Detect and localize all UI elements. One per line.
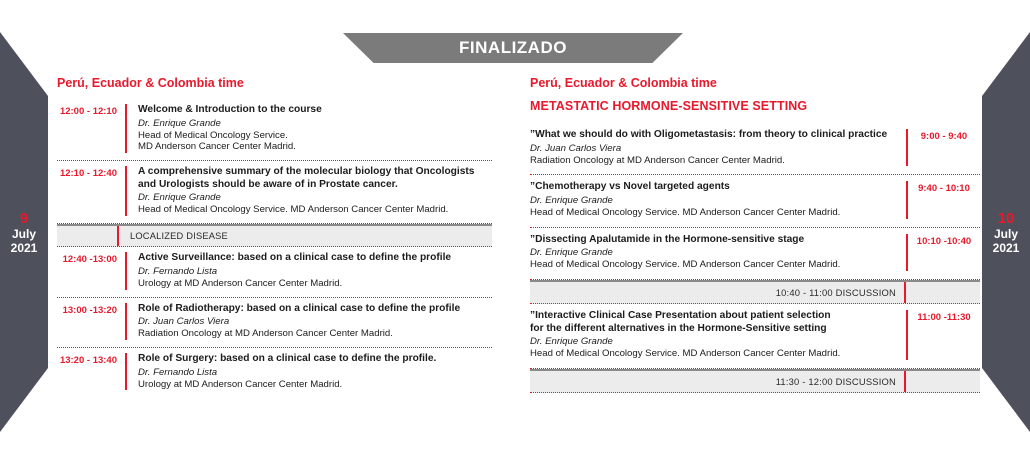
session-title: Active Surveillance: based on a clinical…	[138, 252, 492, 265]
session-row[interactable]: ”What we should do with Oligometastasis:…	[530, 123, 980, 175]
agenda-column-day9: Perú, Ecuador & Colombia time 12:00 - 12…	[57, 76, 492, 397]
section-band-localized-disease: LOCALIZED DISEASE	[57, 224, 492, 247]
discussion-band-label: 10:40 - 11:00 DISCUSSION	[776, 282, 896, 303]
session-body: ”What we should do with Oligometastasis:…	[530, 129, 906, 166]
session-speaker: Dr. Enrique Grande	[530, 195, 896, 207]
band-accent-bar	[117, 226, 119, 246]
day-tab-left: 9 July 2021	[0, 32, 48, 432]
session-row[interactable]: 12:40 -13:00 Active Surveillance: based …	[57, 247, 492, 297]
session-time: 13:00 -13:20	[57, 303, 125, 340]
session-affiliation: Radiation Oncology at MD Anderson Cancer…	[138, 328, 492, 340]
discussion-band-1: 10:40 - 11:00 DISCUSSION	[530, 280, 980, 304]
session-affiliation: Head of Medical Oncology Service. MD And…	[530, 207, 896, 219]
session-title-2: for the different alternatives in the Ho…	[530, 323, 896, 336]
session-affiliation: Radiation Oncology at MD Anderson Cancer…	[530, 155, 896, 167]
day-tab-right-year: 2021	[993, 241, 1020, 255]
session-time: 9:40 - 10:10	[908, 181, 980, 218]
session-affiliation: Head of Medical Oncology Service.	[138, 130, 492, 142]
session-title: Welcome & Introduction to the course	[138, 104, 492, 117]
session-body: Active Surveillance: based on a clinical…	[127, 252, 492, 289]
session-title: ”Chemotherapy vs Novel targeted agents	[530, 181, 896, 194]
section-band-label: LOCALIZED DISEASE	[130, 226, 228, 246]
session-row[interactable]: 13:00 -13:20 Role of Radiotherapy: based…	[57, 298, 492, 348]
day-tab-right-day: 10	[998, 210, 1015, 227]
day-tab-right: 10 July 2021	[982, 32, 1030, 432]
session-speaker: Dr. Enrique Grande	[530, 336, 896, 348]
agenda-page: FINALIZADO 9 July 2021 10 July 2021 Perú…	[0, 0, 1030, 450]
session-time: 10:10 -10:40	[908, 234, 980, 271]
session-affiliation: Urology at MD Anderson Cancer Center Mad…	[138, 379, 492, 391]
discussion-band-label: 11:30 - 12:00 DISCUSSION	[776, 371, 896, 392]
session-affiliation: Head of Medical Oncology Service. MD And…	[138, 204, 492, 216]
session-row[interactable]: ”Interactive Clinical Case Presentation …	[530, 304, 980, 369]
session-time: 12:00 - 12:10	[57, 104, 125, 153]
session-row[interactable]: 12:00 - 12:10 Welcome & Introduction to …	[57, 99, 492, 161]
status-banner: FINALIZADO	[343, 33, 683, 63]
agenda-column-day10: Perú, Ecuador & Colombia time METASTATIC…	[530, 76, 980, 393]
session-body: A comprehensive summary of the molecular…	[127, 166, 492, 216]
timezone-label-left: Perú, Ecuador & Colombia time	[57, 76, 492, 90]
session-body: ”Interactive Clinical Case Presentation …	[530, 310, 906, 360]
session-row[interactable]: ”Dissecting Apalutamide in the Hormone-s…	[530, 228, 980, 280]
session-title: ”Interactive Clinical Case Presentation …	[530, 310, 896, 323]
session-body: Welcome & Introduction to the course Dr.…	[127, 104, 492, 153]
session-affiliation-2: MD Anderson Cancer Center Madrid.	[138, 141, 492, 153]
session-title: Role of Radiotherapy: based on a clinica…	[138, 303, 492, 316]
session-row[interactable]: 12:10 - 12:40 A comprehensive summary of…	[57, 161, 492, 224]
session-speaker: Dr. Enrique Grande	[530, 247, 896, 259]
day-tab-left-month: July	[12, 227, 36, 241]
day-tab-left-day: 9	[20, 210, 28, 227]
session-speaker: Dr. Juan Carlos Viera	[530, 143, 896, 155]
session-title: ”Dissecting Apalutamide in the Hormone-s…	[530, 234, 896, 247]
session-time: 12:40 -13:00	[57, 252, 125, 289]
session-row[interactable]: ”Chemotherapy vs Novel targeted agents D…	[530, 175, 980, 227]
session-body: ”Chemotherapy vs Novel targeted agents D…	[530, 181, 906, 218]
session-time: 9:00 - 9:40	[908, 129, 980, 166]
session-time: 11:00 -11:30	[908, 310, 980, 360]
session-speaker: Dr. Enrique Grande	[138, 192, 492, 204]
session-affiliation: Urology at MD Anderson Cancer Center Mad…	[138, 278, 492, 290]
session-affiliation: Head of Medical Oncology Service. MD And…	[530, 259, 896, 271]
session-speaker: Dr. Enrique Grande	[138, 118, 492, 130]
session-body: Role of Surgery: based on a clinical cas…	[127, 353, 492, 390]
session-affiliation: Head of Medical Oncology Service. MD And…	[530, 348, 896, 360]
band-accent-bar	[904, 282, 906, 303]
session-title: Role of Surgery: based on a clinical cas…	[138, 353, 492, 366]
session-body: Role of Radiotherapy: based on a clinica…	[127, 303, 492, 340]
session-speaker: Dr. Fernando Lista	[138, 367, 492, 379]
session-speaker: Dr. Fernando Lista	[138, 266, 492, 278]
discussion-band-2: 11:30 - 12:00 DISCUSSION	[530, 369, 980, 393]
session-body: ”Dissecting Apalutamide in the Hormone-s…	[530, 234, 906, 271]
timezone-label-right: Perú, Ecuador & Colombia time	[530, 76, 980, 90]
session-row[interactable]: 13:20 - 13:40 Role of Surgery: based on …	[57, 348, 492, 397]
section-heading-metastatic: METASTATIC HORMONE-SENSITIVE SETTING	[530, 99, 980, 113]
session-time: 12:10 - 12:40	[57, 166, 125, 216]
session-title: ”What we should do with Oligometastasis:…	[530, 129, 896, 142]
day-tab-left-year: 2021	[11, 241, 38, 255]
status-banner-label: FINALIZADO	[459, 38, 567, 58]
session-title-2: and Urologists should be aware of in Pro…	[138, 179, 492, 192]
band-accent-bar	[904, 371, 906, 392]
day-tab-right-month: July	[994, 227, 1018, 241]
session-speaker: Dr. Juan Carlos Viera	[138, 316, 492, 328]
session-title: A comprehensive summary of the molecular…	[138, 166, 492, 179]
session-time: 13:20 - 13:40	[57, 353, 125, 390]
